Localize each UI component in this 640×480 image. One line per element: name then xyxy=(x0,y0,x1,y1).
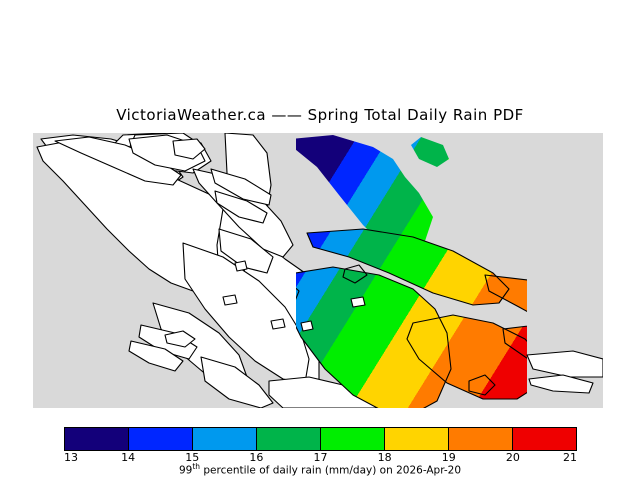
land-microislet-1 xyxy=(235,261,247,271)
colorbar-segment-7[interactable] xyxy=(513,428,576,450)
colorbar-caption-superscript: th xyxy=(192,462,200,471)
colorbar-segment-5[interactable] xyxy=(385,428,449,450)
land-microislet-data-2 xyxy=(301,321,313,331)
colorbar-segment-4[interactable] xyxy=(321,428,385,450)
colorbar[interactable] xyxy=(64,427,577,451)
colorbar-segment-0[interactable] xyxy=(65,428,129,450)
colorbar-segment-2[interactable] xyxy=(193,428,257,450)
colorbar-caption-rest: percentile of daily rain (mm/day) on 202… xyxy=(200,465,461,477)
land-microislet-2 xyxy=(223,295,237,305)
map-svg[interactable] xyxy=(33,133,603,408)
colorbar-segment-3[interactable] xyxy=(257,428,321,450)
colorbar-segment-6[interactable] xyxy=(449,428,513,450)
colorbar-caption-prefix: 99 xyxy=(179,465,192,477)
land-microislet-data-1 xyxy=(351,297,365,307)
map-panel[interactable] xyxy=(33,133,603,408)
colorbar-caption: 99th percentile of daily rain (mm/day) o… xyxy=(0,462,640,477)
page-title: VictoriaWeather.ca —— Spring Total Daily… xyxy=(0,106,640,124)
land-microislet-3 xyxy=(271,319,285,329)
weather-map-figure: VictoriaWeather.ca —— Spring Total Daily… xyxy=(0,0,640,480)
colorbar-segment-1[interactable] xyxy=(129,428,193,450)
colorbar-segments[interactable] xyxy=(64,427,577,451)
